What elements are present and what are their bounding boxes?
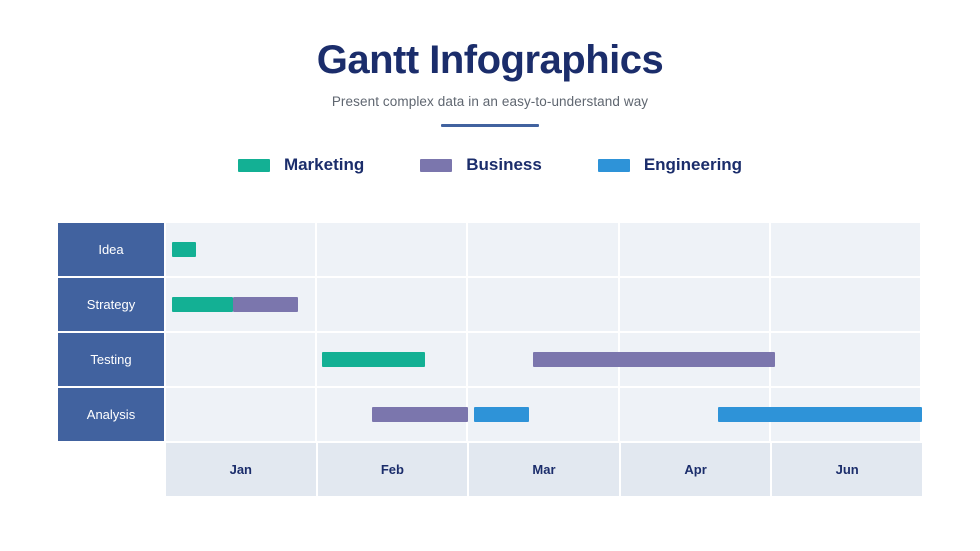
gantt-bar-engineering[interactable] — [474, 407, 528, 422]
grid-cell — [771, 333, 920, 386]
gantt-bar-business[interactable] — [233, 297, 298, 312]
month-tick-jun: Jun — [772, 443, 922, 496]
page-subtitle: Present complex data in an easy-to-under… — [0, 94, 980, 109]
grid-cell — [620, 223, 769, 276]
row-label-analysis[interactable]: Analysis — [58, 388, 164, 441]
gantt-row-idea: Idea — [58, 223, 922, 276]
grid-cell — [771, 278, 920, 331]
grid-cell — [620, 278, 769, 331]
month-tick-mar: Mar — [469, 443, 619, 496]
gantt-bar-business[interactable] — [533, 352, 775, 367]
title-divider-wrap — [0, 124, 980, 127]
chart-legend: Marketing Business Engineering — [0, 155, 980, 175]
legend-item-marketing[interactable]: Marketing — [238, 155, 364, 175]
grid-cell — [166, 388, 315, 441]
gantt-row-testing: Testing — [58, 333, 922, 386]
legend-label-engineering: Engineering — [644, 155, 742, 175]
month-tick-jan: Jan — [166, 443, 316, 496]
title-divider — [441, 124, 539, 127]
page-title: Gantt Infographics — [0, 38, 980, 82]
grid-cell — [468, 278, 617, 331]
grid-cell — [166, 333, 315, 386]
row-track-analysis — [166, 388, 922, 441]
gantt-bar-marketing[interactable] — [172, 297, 232, 312]
month-axis-track: Jan Feb Mar Apr Jun — [166, 443, 922, 496]
legend-item-business[interactable]: Business — [420, 155, 542, 175]
gantt-bar-marketing[interactable] — [322, 352, 425, 367]
slide-header: Gantt Infographics Present complex data … — [0, 0, 980, 127]
row-track-testing — [166, 333, 922, 386]
gantt-row-strategy: Strategy — [58, 278, 922, 331]
legend-swatch-engineering — [598, 159, 630, 172]
gantt-bar-marketing[interactable] — [172, 242, 196, 257]
gantt-bar-engineering[interactable] — [718, 407, 922, 422]
legend-label-marketing: Marketing — [284, 155, 364, 175]
legend-swatch-marketing — [238, 159, 270, 172]
grid-cell — [468, 223, 617, 276]
gantt-row-analysis: Analysis — [58, 388, 922, 441]
grid-cell — [317, 278, 466, 331]
legend-swatch-business — [420, 159, 452, 172]
row-label-testing[interactable]: Testing — [58, 333, 164, 386]
month-tick-apr: Apr — [621, 443, 771, 496]
row-track-strategy — [166, 278, 922, 331]
legend-item-engineering[interactable]: Engineering — [598, 155, 742, 175]
month-tick-feb: Feb — [318, 443, 468, 496]
grid-cell — [317, 223, 466, 276]
gantt-bar-business[interactable] — [372, 407, 468, 422]
gantt-chart: Idea Strategy Testing — [58, 223, 922, 496]
row-label-idea[interactable]: Idea — [58, 223, 164, 276]
month-axis-spacer — [58, 443, 164, 496]
month-axis: Jan Feb Mar Apr Jun — [58, 443, 922, 496]
row-label-strategy[interactable]: Strategy — [58, 278, 164, 331]
grid-cell — [771, 223, 920, 276]
gantt-infographic-slide: { "header": { "title": "Gantt Infographi… — [0, 0, 980, 551]
legend-label-business: Business — [466, 155, 542, 175]
row-track-idea — [166, 223, 922, 276]
